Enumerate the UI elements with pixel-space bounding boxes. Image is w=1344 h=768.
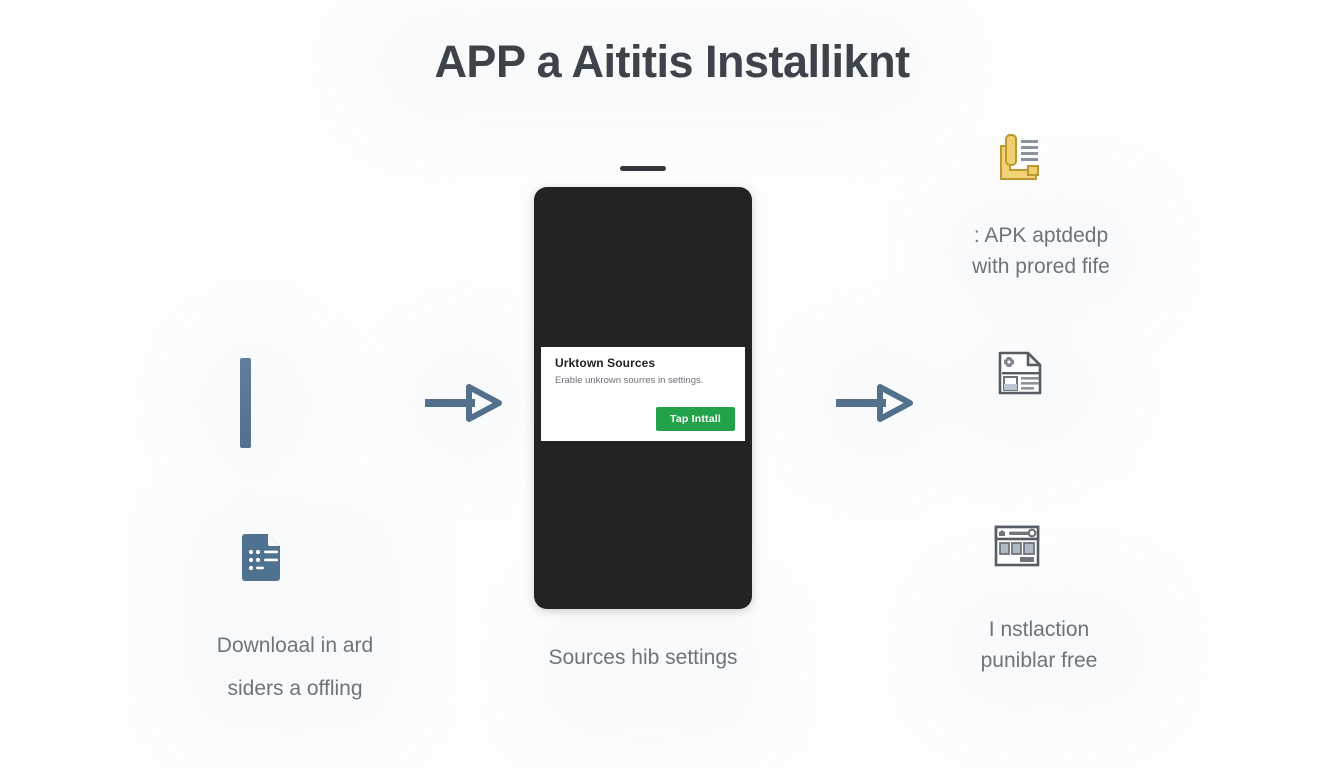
page-title: APP a Aititis Installiknt	[0, 36, 1344, 88]
arrow-right-icon-1	[425, 381, 503, 425]
infographic-canvas: APP a Aititis Installiknt Downloaal in a…	[0, 0, 1344, 768]
install-caption-line-1: I nstlaction	[914, 614, 1164, 645]
left-step-caption: Downloaal in ard siders a offling	[150, 624, 440, 710]
installer-window-icon	[990, 519, 1044, 573]
tap-install-button[interactable]: Tap Inttall	[656, 407, 735, 431]
phone-step-caption: Sources hib settings	[523, 646, 763, 670]
installation-step-caption: I nstlaction puniblar free	[914, 614, 1164, 676]
document-list-icon	[232, 528, 288, 584]
dialog-title: Urktown Sources	[555, 356, 655, 370]
install-caption-line-2: puniblar free	[914, 645, 1164, 676]
arrow-right-icon-2	[836, 381, 914, 425]
apk-package-icon	[992, 128, 1046, 182]
phone-speaker-icon	[620, 166, 666, 171]
apk-step-caption: : APK aptdedp with prored fife	[916, 220, 1166, 282]
phone-mockup: Urktown Sources Erable unkrown sourres i…	[534, 187, 752, 609]
apk-caption-line-1: : APK aptdedp	[916, 220, 1166, 251]
apk-file-document-icon	[993, 346, 1047, 400]
left-caption-line-1: Downloaal in ard	[150, 624, 440, 667]
unknown-sources-dialog: Urktown Sources Erable unkrown sourres i…	[541, 347, 745, 441]
apk-caption-line-2: with prored fife	[916, 251, 1166, 282]
halo-left-bar	[196, 336, 314, 476]
left-caption-line-2: siders a offling	[150, 667, 440, 710]
dialog-body-text: Erable unkrown sourres in settings.	[555, 375, 703, 386]
download-progress-bar	[240, 358, 251, 448]
